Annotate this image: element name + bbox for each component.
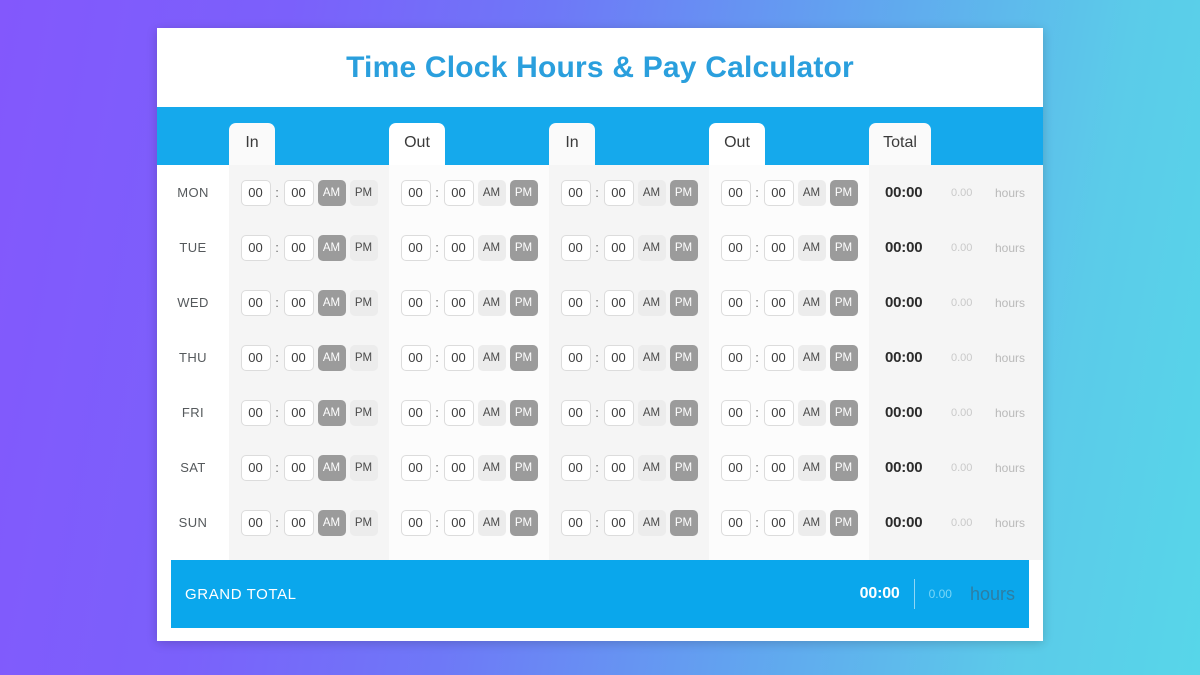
am-button-out-1[interactable]: AM — [478, 235, 506, 261]
table-row: TUE:AMPM:AMPM:AMPM:AMPM00:000.00hours — [157, 220, 1043, 275]
minute-input-in-2[interactable] — [604, 510, 634, 536]
row-total-unit: hours — [995, 296, 1025, 310]
time-separator: : — [435, 460, 440, 475]
time-separator: : — [595, 350, 600, 365]
hour-input-out-1[interactable] — [401, 510, 431, 536]
pm-button-out-1[interactable]: PM — [510, 290, 538, 316]
time-separator: : — [755, 185, 760, 200]
hour-input-out-1[interactable] — [401, 455, 431, 481]
am-button-in-2[interactable]: AM — [638, 345, 666, 371]
row-total-time: 00:00 — [885, 184, 937, 201]
pm-button-in-1[interactable]: PM — [350, 345, 378, 371]
hour-input-in-2[interactable] — [561, 400, 591, 426]
time-group-in-2: :AMPM — [549, 385, 709, 440]
row-total-time: 00:00 — [885, 404, 937, 421]
pm-button-in-1[interactable]: PM — [350, 235, 378, 261]
tab-in-2-label: In — [565, 135, 578, 151]
time-group-out-1: :AMPM — [389, 440, 549, 495]
minute-input-in-1[interactable] — [284, 180, 314, 206]
row-total-time: 00:00 — [885, 239, 937, 256]
time-group-out-2: :AMPM — [709, 220, 869, 275]
hour-input-out-2[interactable] — [721, 235, 751, 261]
row-total-unit: hours — [995, 351, 1025, 365]
hour-input-in-1[interactable] — [241, 345, 271, 371]
grand-total-label: GRAND TOTAL — [185, 586, 297, 603]
minute-input-out-1[interactable] — [444, 345, 474, 371]
grand-total-unit: hours — [970, 584, 1015, 605]
grand-total-bar: GRAND TOTAL 00:00 0.00 hours — [171, 560, 1029, 628]
time-separator: : — [275, 350, 280, 365]
hour-input-in-2[interactable] — [561, 180, 591, 206]
pm-button-out-2[interactable]: PM — [830, 400, 858, 426]
am-button-out-2[interactable]: AM — [798, 510, 826, 536]
hour-input-in-1[interactable] — [241, 290, 271, 316]
minute-input-in-1[interactable] — [284, 290, 314, 316]
am-button-in-2[interactable]: AM — [638, 180, 666, 206]
minute-input-out-1[interactable] — [444, 290, 474, 316]
time-separator: : — [595, 295, 600, 310]
hour-input-out-1[interactable] — [401, 345, 431, 371]
page-title: Time Clock Hours & Pay Calculator — [346, 51, 854, 85]
hour-input-in-1[interactable] — [241, 235, 271, 261]
row-total-decimal: 0.00 — [951, 352, 979, 364]
pm-button-out-1[interactable]: PM — [510, 180, 538, 206]
am-button-out-1[interactable]: AM — [478, 510, 506, 536]
minute-input-in-2[interactable] — [604, 180, 634, 206]
minute-input-in-1[interactable] — [284, 345, 314, 371]
am-button-out-1[interactable]: AM — [478, 400, 506, 426]
hour-input-in-2[interactable] — [561, 345, 591, 371]
minute-input-out-1[interactable] — [444, 455, 474, 481]
am-button-out-1[interactable]: AM — [478, 455, 506, 481]
pm-button-out-2[interactable]: PM — [830, 510, 858, 536]
time-separator: : — [435, 240, 440, 255]
time-separator: : — [595, 405, 600, 420]
am-button-in-1[interactable]: AM — [318, 400, 346, 426]
hour-input-in-1[interactable] — [241, 510, 271, 536]
minute-input-in-2[interactable] — [604, 290, 634, 316]
hour-input-out-1[interactable] — [401, 235, 431, 261]
grand-total-values: 00:00 0.00 hours — [860, 579, 1015, 609]
am-button-out-2[interactable]: AM — [798, 400, 826, 426]
time-separator: : — [275, 185, 280, 200]
am-button-out-1[interactable]: AM — [478, 180, 506, 206]
day-label-sun: SUN — [157, 495, 229, 550]
pm-button-out-2[interactable]: PM — [830, 235, 858, 261]
day-label-tue: TUE — [157, 220, 229, 275]
time-group-in-1: :AMPM — [229, 385, 389, 440]
time-group-out-2: :AMPM — [709, 495, 869, 550]
hour-input-out-1[interactable] — [401, 400, 431, 426]
tab-in-1-label: In — [245, 135, 258, 151]
am-button-in-2[interactable]: AM — [638, 455, 666, 481]
pm-button-out-2[interactable]: PM — [830, 455, 858, 481]
minute-input-out-1[interactable] — [444, 510, 474, 536]
pm-button-out-2[interactable]: PM — [830, 345, 858, 371]
time-separator: : — [275, 515, 280, 530]
row-total: 00:000.00hours — [869, 275, 1043, 330]
pm-button-out-2[interactable]: PM — [830, 290, 858, 316]
pm-button-in-2[interactable]: PM — [670, 510, 698, 536]
table-header-strip: In Out In Out Total — [157, 107, 1043, 165]
hour-input-out-2[interactable] — [721, 455, 751, 481]
time-group-out-1: :AMPM — [389, 385, 549, 440]
hour-input-in-2[interactable] — [561, 290, 591, 316]
day-label-fri: FRI — [157, 385, 229, 440]
row-total-unit: hours — [995, 516, 1025, 530]
grand-total-divider — [914, 579, 915, 609]
time-separator: : — [595, 240, 600, 255]
pm-button-out-1[interactable]: PM — [510, 400, 538, 426]
pm-button-in-1[interactable]: PM — [350, 290, 378, 316]
row-total: 00:000.00hours — [869, 165, 1043, 220]
minute-input-out-1[interactable] — [444, 180, 474, 206]
pm-button-in-2[interactable]: PM — [670, 400, 698, 426]
hour-input-in-2[interactable] — [561, 510, 591, 536]
time-group-out-1: :AMPM — [389, 275, 549, 330]
minute-input-out-2[interactable] — [764, 290, 794, 316]
time-separator: : — [275, 240, 280, 255]
time-group-out-1: :AMPM — [389, 495, 549, 550]
header-cell-out-2: Out — [709, 107, 869, 165]
minute-input-in-1[interactable] — [284, 510, 314, 536]
minute-input-out-2[interactable] — [764, 180, 794, 206]
am-button-in-1[interactable]: AM — [318, 180, 346, 206]
row-total-unit: hours — [995, 241, 1025, 255]
time-separator: : — [275, 295, 280, 310]
tab-in-2[interactable]: In — [549, 123, 595, 165]
row-total-unit: hours — [995, 406, 1025, 420]
time-group-in-2: :AMPM — [549, 495, 709, 550]
time-separator: : — [435, 350, 440, 365]
tab-out-2-label: Out — [724, 135, 750, 151]
time-separator: : — [755, 405, 760, 420]
am-button-in-1[interactable]: AM — [318, 345, 346, 371]
table-row: SUN:AMPM:AMPM:AMPM:AMPM00:000.00hours — [157, 495, 1043, 550]
time-group-in-2: :AMPM — [549, 275, 709, 330]
pm-button-in-1[interactable]: PM — [350, 455, 378, 481]
time-group-out-1: :AMPM — [389, 165, 549, 220]
time-group-out-2: :AMPM — [709, 385, 869, 440]
grand-total-time: 00:00 — [860, 585, 900, 603]
row-total-time: 00:00 — [885, 514, 937, 531]
am-button-out-2[interactable]: AM — [798, 455, 826, 481]
time-separator: : — [755, 240, 760, 255]
time-group-out-1: :AMPM — [389, 330, 549, 385]
pm-button-in-1[interactable]: PM — [350, 180, 378, 206]
row-total-time: 00:00 — [885, 349, 937, 366]
time-separator: : — [275, 405, 280, 420]
minute-input-in-2[interactable] — [604, 400, 634, 426]
pm-button-in-2[interactable]: PM — [670, 180, 698, 206]
time-separator: : — [595, 185, 600, 200]
am-button-in-2[interactable]: AM — [638, 290, 666, 316]
am-button-in-2[interactable]: AM — [638, 400, 666, 426]
header-cell-out-1: Out — [389, 107, 549, 165]
day-label-thu: THU — [157, 330, 229, 385]
minute-input-in-2[interactable] — [604, 455, 634, 481]
pm-button-in-2[interactable]: PM — [670, 235, 698, 261]
am-button-in-1[interactable]: AM — [318, 510, 346, 536]
row-total-decimal: 0.00 — [951, 462, 979, 474]
minute-input-out-2[interactable] — [764, 510, 794, 536]
am-button-out-2[interactable]: AM — [798, 345, 826, 371]
row-total: 00:000.00hours — [869, 385, 1043, 440]
table-row: SAT:AMPM:AMPM:AMPM:AMPM00:000.00hours — [157, 440, 1043, 495]
pm-button-out-1[interactable]: PM — [510, 455, 538, 481]
time-group-in-1: :AMPM — [229, 220, 389, 275]
am-button-in-1[interactable]: AM — [318, 235, 346, 261]
am-button-in-2[interactable]: AM — [638, 235, 666, 261]
time-separator: : — [435, 295, 440, 310]
minute-input-in-2[interactable] — [604, 235, 634, 261]
row-total: 00:000.00hours — [869, 495, 1043, 550]
hour-input-in-1[interactable] — [241, 180, 271, 206]
time-group-in-2: :AMPM — [549, 220, 709, 275]
day-label-mon: MON — [157, 165, 229, 220]
row-total-time: 00:00 — [885, 459, 937, 476]
time-group-in-1: :AMPM — [229, 495, 389, 550]
time-separator: : — [595, 460, 600, 475]
row-total-unit: hours — [995, 461, 1025, 475]
day-label-sat: SAT — [157, 440, 229, 495]
hour-input-out-1[interactable] — [401, 290, 431, 316]
am-button-out-2[interactable]: AM — [798, 235, 826, 261]
am-button-in-2[interactable]: AM — [638, 510, 666, 536]
time-group-in-1: :AMPM — [229, 330, 389, 385]
hour-input-in-2[interactable] — [561, 455, 591, 481]
day-label-wed: WED — [157, 275, 229, 330]
minute-input-in-2[interactable] — [604, 345, 634, 371]
am-button-in-1[interactable]: AM — [318, 455, 346, 481]
hour-input-in-1[interactable] — [241, 400, 271, 426]
title-bar: Time Clock Hours & Pay Calculator — [157, 28, 1043, 107]
hour-input-out-1[interactable] — [401, 180, 431, 206]
time-group-in-2: :AMPM — [549, 330, 709, 385]
time-separator: : — [755, 350, 760, 365]
table-row: FRI:AMPM:AMPM:AMPM:AMPM00:000.00hours — [157, 385, 1043, 440]
pm-button-out-1[interactable]: PM — [510, 235, 538, 261]
time-separator: : — [755, 460, 760, 475]
time-separator: : — [435, 405, 440, 420]
time-group-in-2: :AMPM — [549, 165, 709, 220]
time-group-in-2: :AMPM — [549, 440, 709, 495]
row-total-decimal: 0.00 — [951, 242, 979, 254]
time-separator: : — [435, 185, 440, 200]
hour-input-out-2[interactable] — [721, 510, 751, 536]
pm-button-in-2[interactable]: PM — [670, 345, 698, 371]
header-cell-in-1: In — [229, 107, 389, 165]
minute-input-out-2[interactable] — [764, 400, 794, 426]
minute-input-in-1[interactable] — [284, 235, 314, 261]
tab-total[interactable]: Total — [869, 123, 931, 165]
minute-input-out-2[interactable] — [764, 345, 794, 371]
time-group-out-2: :AMPM — [709, 165, 869, 220]
row-total: 00:000.00hours — [869, 330, 1043, 385]
am-button-out-1[interactable]: AM — [478, 290, 506, 316]
timesheet-body: MON:AMPM:AMPM:AMPM:AMPM00:000.00hoursTUE… — [157, 165, 1043, 560]
hour-input-out-2[interactable] — [721, 400, 751, 426]
minute-input-out-2[interactable] — [764, 235, 794, 261]
hour-input-in-2[interactable] — [561, 235, 591, 261]
time-separator: : — [435, 515, 440, 530]
time-separator: : — [755, 295, 760, 310]
minute-input-out-1[interactable] — [444, 400, 474, 426]
row-total: 00:000.00hours — [869, 220, 1043, 275]
tab-out-1-label: Out — [404, 135, 430, 151]
minute-input-in-1[interactable] — [284, 400, 314, 426]
minute-input-out-2[interactable] — [764, 455, 794, 481]
row-total-decimal: 0.00 — [951, 517, 979, 529]
pm-button-in-1[interactable]: PM — [350, 510, 378, 536]
row-total-unit: hours — [995, 186, 1025, 200]
table-row: THU:AMPM:AMPM:AMPM:AMPM00:000.00hours — [157, 330, 1043, 385]
hour-input-out-2[interactable] — [721, 180, 751, 206]
header-cell-total: Total — [869, 107, 1043, 165]
am-button-out-1[interactable]: AM — [478, 345, 506, 371]
time-group-in-1: :AMPM — [229, 440, 389, 495]
am-button-out-2[interactable]: AM — [798, 180, 826, 206]
pm-button-out-2[interactable]: PM — [830, 180, 858, 206]
time-group-out-2: :AMPM — [709, 440, 869, 495]
header-day-spacer — [157, 107, 229, 165]
row-total-time: 00:00 — [885, 294, 937, 311]
row-total-decimal: 0.00 — [951, 407, 979, 419]
time-group-out-2: :AMPM — [709, 330, 869, 385]
time-group-in-1: :AMPM — [229, 165, 389, 220]
table-row: MON:AMPM:AMPM:AMPM:AMPM00:000.00hours — [157, 165, 1043, 220]
time-group-out-2: :AMPM — [709, 275, 869, 330]
tab-total-label: Total — [883, 135, 917, 151]
minute-input-in-1[interactable] — [284, 455, 314, 481]
am-button-out-2[interactable]: AM — [798, 290, 826, 316]
am-button-in-1[interactable]: AM — [318, 290, 346, 316]
row-total-decimal: 0.00 — [951, 297, 979, 309]
hour-input-out-2[interactable] — [721, 290, 751, 316]
time-separator: : — [755, 515, 760, 530]
time-group-out-1: :AMPM — [389, 220, 549, 275]
hour-input-out-2[interactable] — [721, 345, 751, 371]
header-cell-in-2: In — [549, 107, 709, 165]
calculator-card: Time Clock Hours & Pay Calculator In Out… — [157, 28, 1043, 641]
pm-button-out-1[interactable]: PM — [510, 510, 538, 536]
pm-button-out-1[interactable]: PM — [510, 345, 538, 371]
time-separator: : — [595, 515, 600, 530]
grand-total-decimal: 0.00 — [929, 587, 952, 601]
pm-button-in-2[interactable]: PM — [670, 455, 698, 481]
tab-in-1[interactable]: In — [229, 123, 275, 165]
pm-button-in-2[interactable]: PM — [670, 290, 698, 316]
tab-out-1[interactable]: Out — [389, 123, 445, 165]
table-row: WED:AMPM:AMPM:AMPM:AMPM00:000.00hours — [157, 275, 1043, 330]
minute-input-out-1[interactable] — [444, 235, 474, 261]
timesheet-rows: MON:AMPM:AMPM:AMPM:AMPM00:000.00hoursTUE… — [157, 165, 1043, 550]
row-total: 00:000.00hours — [869, 440, 1043, 495]
time-separator: : — [275, 460, 280, 475]
tab-out-2[interactable]: Out — [709, 123, 765, 165]
hour-input-in-1[interactable] — [241, 455, 271, 481]
time-group-in-1: :AMPM — [229, 275, 389, 330]
pm-button-in-1[interactable]: PM — [350, 400, 378, 426]
row-total-decimal: 0.00 — [951, 187, 979, 199]
